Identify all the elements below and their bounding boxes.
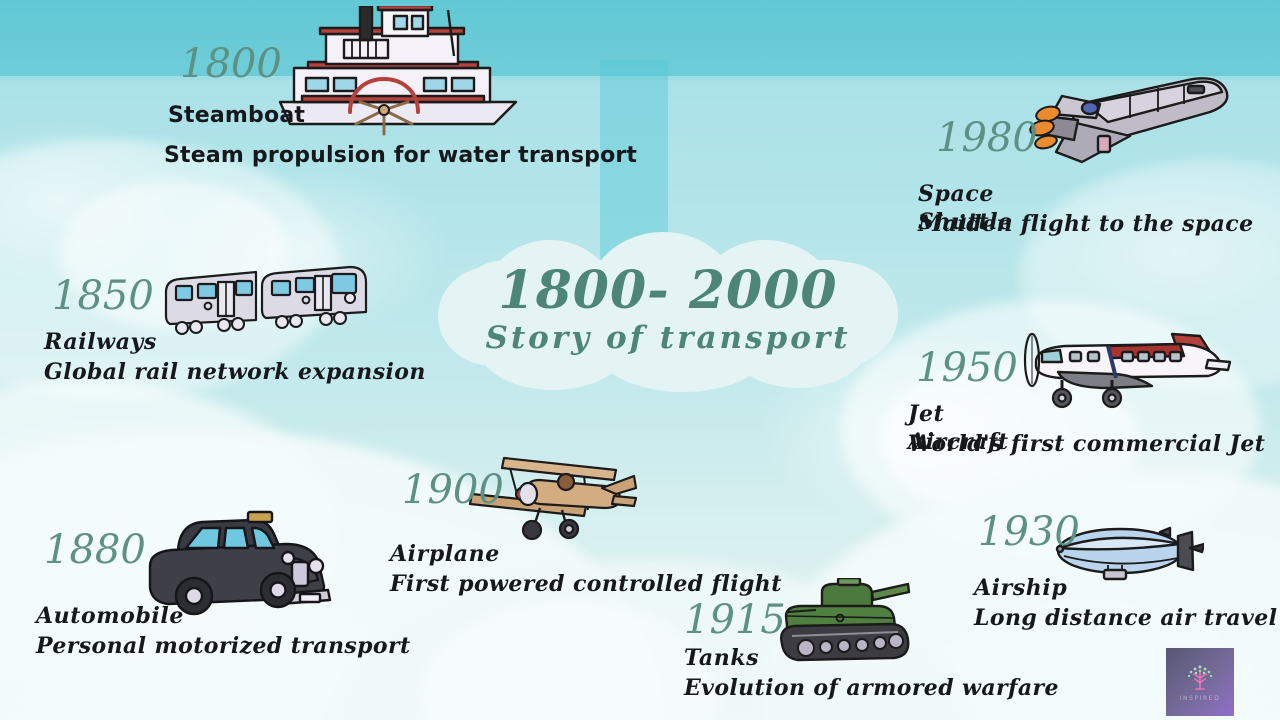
entry-year: 1950 bbox=[916, 348, 1018, 388]
entry-description: First powered controlled flight bbox=[390, 570, 782, 598]
entry-description: Personal motorized transport bbox=[36, 632, 411, 660]
entry-name: Steamboat bbox=[168, 102, 305, 130]
tree-logo-icon bbox=[1185, 662, 1215, 692]
title-text-group: 1800- 2000 Story of transport bbox=[438, 232, 898, 387]
entry-year: 1880 bbox=[44, 530, 146, 570]
entry-description: Global rail network expansion bbox=[44, 358, 426, 386]
space-shuttle-icon bbox=[1012, 74, 1234, 184]
entry-year: 1900 bbox=[402, 470, 504, 510]
steamboat-icon bbox=[272, 6, 524, 138]
tank-icon bbox=[768, 578, 918, 672]
jet-aircraft-icon bbox=[1012, 330, 1232, 416]
entry-name: Airplane bbox=[390, 540, 500, 568]
page-subtitle: Story of transport bbox=[485, 323, 850, 354]
entry-name: Railways bbox=[44, 328, 157, 356]
train-icon bbox=[160, 262, 372, 344]
watermark-logo: INSPIRED bbox=[1166, 648, 1234, 716]
entry-year: 1850 bbox=[52, 276, 154, 316]
infographic-canvas: 1800- 2000 Story of transport bbox=[0, 0, 1280, 720]
entry-description: Maiden flight to the space bbox=[918, 210, 1254, 238]
entry-year: 1800 bbox=[180, 44, 282, 84]
entry-year: 1915 bbox=[684, 600, 786, 640]
entry-description: World's first commercial Jet bbox=[908, 430, 1265, 458]
watermark-label: INSPIRED bbox=[1180, 695, 1221, 702]
entry-description: Steam propulsion for water transport bbox=[164, 142, 637, 170]
page-title: 1800- 2000 bbox=[498, 265, 837, 317]
title-cloud: 1800- 2000 Story of transport bbox=[438, 232, 898, 387]
entry-year: 1980 bbox=[936, 118, 1038, 158]
entry-name: Tanks bbox=[684, 644, 759, 672]
entry-year: 1930 bbox=[978, 512, 1080, 552]
entry-description: Long distance air travel bbox=[974, 604, 1277, 632]
entry-description: Evolution of armored warfare bbox=[684, 674, 1059, 702]
entry-name: Airship bbox=[974, 574, 1067, 602]
entry-name: Automobile bbox=[36, 602, 184, 630]
